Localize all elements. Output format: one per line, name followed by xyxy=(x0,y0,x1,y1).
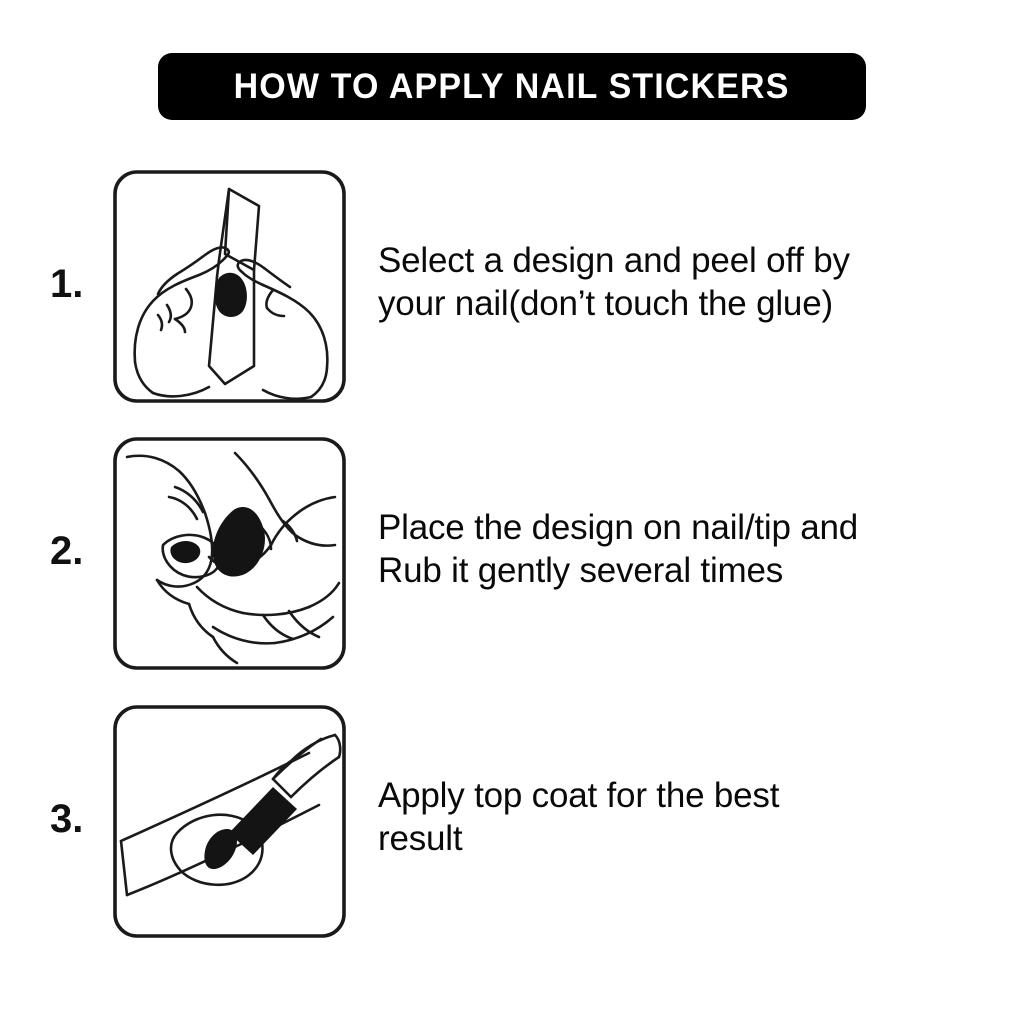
step-number-2: 2. xyxy=(50,531,110,571)
header-banner: HOW TO APPLY NAIL STICKERS xyxy=(158,53,866,120)
step-text-3-line-2: result xyxy=(378,818,1003,861)
step-text-2-line-2: Rub it gently several times xyxy=(378,550,1003,593)
peeling-sticker-from-sheet-icon xyxy=(113,170,346,403)
page-title: HOW TO APPLY NAIL STICKERS xyxy=(234,69,790,104)
step-illustration-panel-3 xyxy=(113,705,346,938)
step-text-1-line-2: your nail(don’t touch the glue) xyxy=(378,283,1003,326)
step-text-1-line-1: Select a design and peel off by xyxy=(378,240,1003,283)
step-number-3: 3. xyxy=(50,799,110,839)
step-number-1: 1. xyxy=(50,264,110,304)
infographic-root: HOW TO APPLY NAIL STICKERS 1. xyxy=(0,0,1024,1024)
step-text-2-line-1: Place the design on nail/tip and xyxy=(378,507,1003,550)
step-text-2: Place the design on nail/tip and Rub it … xyxy=(378,507,1003,592)
nail-sticker-shape xyxy=(215,273,247,317)
placing-sticker-on-nail-icon xyxy=(113,437,346,670)
step-text-3: Apply top coat for the best result xyxy=(378,775,1003,860)
step-text-1: Select a design and peel off by your nai… xyxy=(378,240,1003,325)
step-text-3-line-1: Apply top coat for the best xyxy=(378,775,1003,818)
applying-top-coat-brush-icon xyxy=(113,705,346,938)
step-illustration-panel-2 xyxy=(113,437,346,670)
step-illustration-panel-1 xyxy=(113,170,346,403)
